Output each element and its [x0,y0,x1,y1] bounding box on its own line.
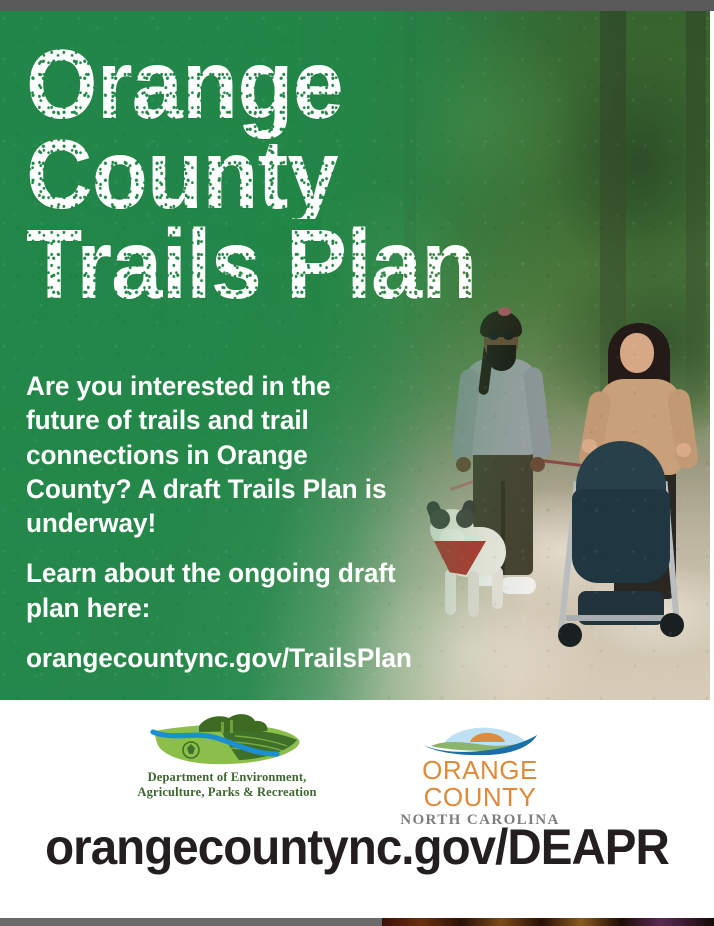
logo-row: Department of Environment, Agriculture, … [0,708,714,814]
body-paragraph-1: Are you interested in the future of trai… [26,369,406,540]
orange-county-name: ORANGE COUNTY [373,757,587,810]
bottom-bar-right-strip [382,918,714,926]
window-top-bar [0,0,714,11]
hero-banner: Orange County Trails Plan Are you intere… [0,11,710,700]
right-edge-margin [710,11,714,700]
body-paragraph-2: Learn about the ongoing draft plan here: [26,556,406,625]
trails-plan-url[interactable]: orangecountync.gov/TrailsPlan [26,641,406,675]
footer-url[interactable]: orangecountync.gov/DEAPR [18,818,696,876]
poster-screenshot: Orange County Trails Plan Are you intere… [0,0,714,926]
orange-county-swoosh-icon [415,722,545,756]
window-bottom-bar [0,918,714,926]
body-copy: Are you interested in the future of trai… [26,369,418,675]
deapr-caption-line-1: Department of Environment, [127,770,327,785]
footer-band: Department of Environment, Agriculture, … [0,700,714,918]
deapr-logo: Department of Environment, Agriculture, … [127,708,327,801]
leaf-landscape-logo-icon [147,710,307,768]
orange-county-logo: ORANGE COUNTY NORTH CAROLINA [373,708,587,829]
headline-line-2: Trails Plan [26,219,646,309]
headline-line-1: Orange County [26,39,646,219]
page-title: Orange County Trails Plan [26,39,686,309]
bottom-bar-left-strip [0,918,382,926]
deapr-caption-line-2: Agriculture, Parks & Recreation [127,785,327,800]
